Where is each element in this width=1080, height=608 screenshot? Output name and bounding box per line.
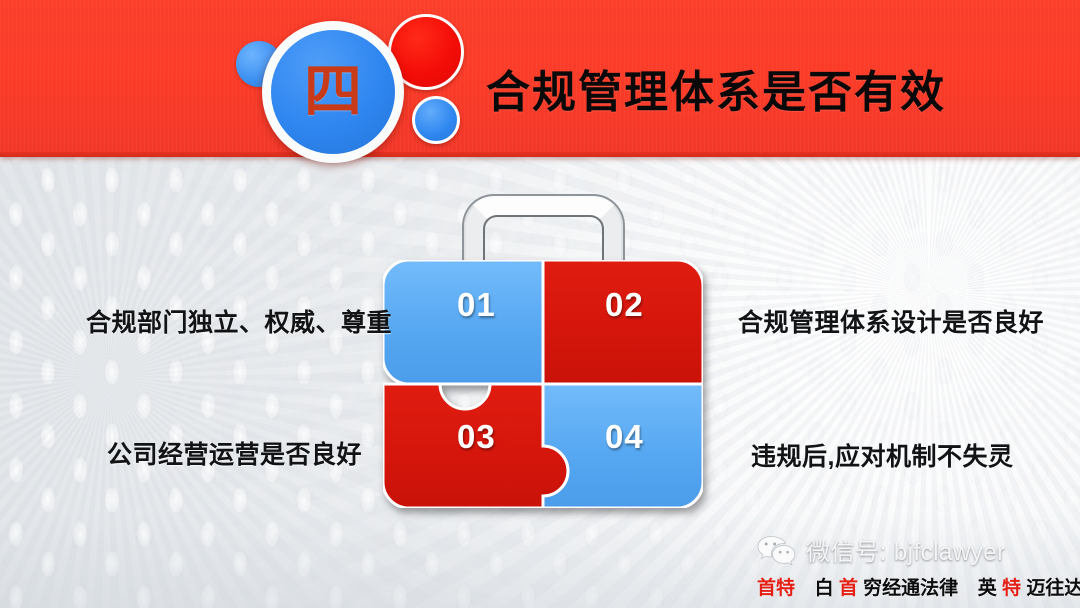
callout-label-02: 合规管理体系设计是否良好	[738, 303, 1044, 339]
slogan-part-3: 首	[839, 573, 858, 600]
slogan-part-1: 首特	[757, 573, 795, 600]
section-number-label: 四	[304, 62, 362, 120]
footer-slogan: 首特 白 首 穷经通法律 英 特 迈往达正义	[757, 573, 1080, 600]
wechat-icon	[757, 535, 797, 565]
callout-label-01: 合规部门独立、权威、尊重	[86, 303, 392, 339]
slogan-part-6: 特	[1002, 573, 1021, 600]
padlock-diagram: 01 02 03 04	[383, 196, 703, 508]
callout-label-03: 公司经营运营是否良好	[107, 435, 362, 471]
slide-canvas: 四 合规管理体系是否有效	[0, 0, 1080, 608]
slogan-part-5: 英	[978, 573, 997, 600]
decor-circle-blue-medium	[412, 96, 460, 144]
page-title: 合规管理体系是否有效	[486, 56, 946, 120]
padlock-body: 01 02 03 04	[383, 260, 703, 508]
wechat-watermark: 微信号: bjfclawyer	[757, 532, 1006, 567]
wechat-id-text: 微信号: bjfclawyer	[806, 532, 1006, 567]
puzzle-piece-01[interactable]	[383, 260, 543, 384]
section-badge-cluster: 四	[236, 12, 476, 172]
puzzle-piece-04[interactable]	[543, 384, 703, 508]
puzzle-svg	[383, 260, 703, 508]
slogan-part-4: 穷经通法律	[863, 573, 958, 600]
puzzle-piece-03[interactable]	[383, 384, 568, 508]
slogan-part-2: 白	[815, 573, 834, 600]
banner-bottom-edge	[0, 152, 1080, 157]
section-number-badge: 四	[262, 21, 404, 163]
puzzle-piece-02[interactable]	[543, 260, 703, 384]
slogan-part-7: 迈往达正义	[1026, 573, 1080, 600]
callout-label-04: 违规后,应对机制不失灵	[751, 437, 1013, 473]
